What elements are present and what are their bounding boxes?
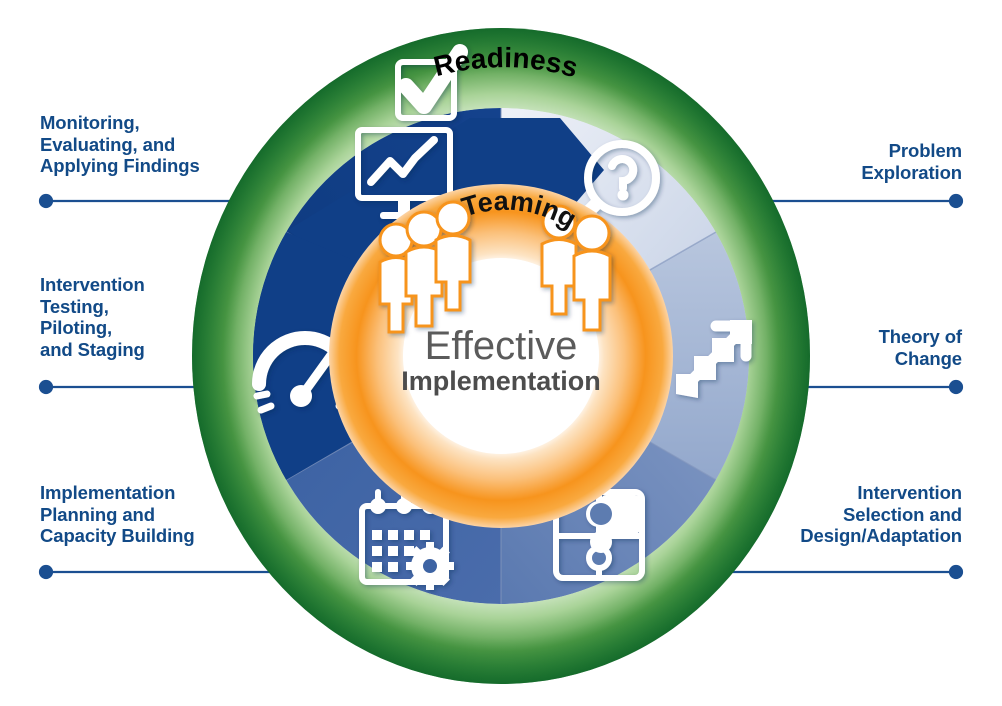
label-line: Testing, xyxy=(40,296,255,318)
label-line: Problem xyxy=(747,140,962,162)
label-intervention-testing[interactable]: Intervention Testing, Piloting, and Stag… xyxy=(40,274,255,361)
label-line: Change xyxy=(747,348,962,370)
label-line: Piloting, xyxy=(40,317,255,339)
label-line: Intervention xyxy=(737,482,962,504)
diagram-canvas: Readiness xyxy=(0,0,1002,706)
label-line: and Staging xyxy=(40,339,255,361)
label-line: Capacity Building xyxy=(40,525,255,547)
center-title-implementation: Implementation xyxy=(401,366,601,396)
label-line: Design/Adaptation xyxy=(737,525,962,547)
label-implementation-planning[interactable]: Implementation Planning and Capacity Bui… xyxy=(40,482,255,547)
label-line: Planning and xyxy=(40,504,255,526)
label-line: Exploration xyxy=(747,162,962,184)
label-monitoring-evaluating[interactable]: Monitoring, Evaluating, and Applying Fin… xyxy=(40,112,255,177)
center-title-effective: Effective xyxy=(425,324,578,368)
label-line: Selection and xyxy=(737,504,962,526)
label-line: Monitoring, xyxy=(40,112,255,134)
label-theory-of-change[interactable]: Theory of Change xyxy=(747,326,962,369)
label-line: Evaluating, and xyxy=(40,134,255,156)
label-line: Implementation xyxy=(40,482,255,504)
label-line: Applying Findings xyxy=(40,155,255,177)
label-line: Theory of xyxy=(747,326,962,348)
label-intervention-selection[interactable]: Intervention Selection and Design/Adapta… xyxy=(737,482,962,547)
label-problem-exploration[interactable]: Problem Exploration xyxy=(747,140,962,183)
label-line: Intervention xyxy=(40,274,255,296)
